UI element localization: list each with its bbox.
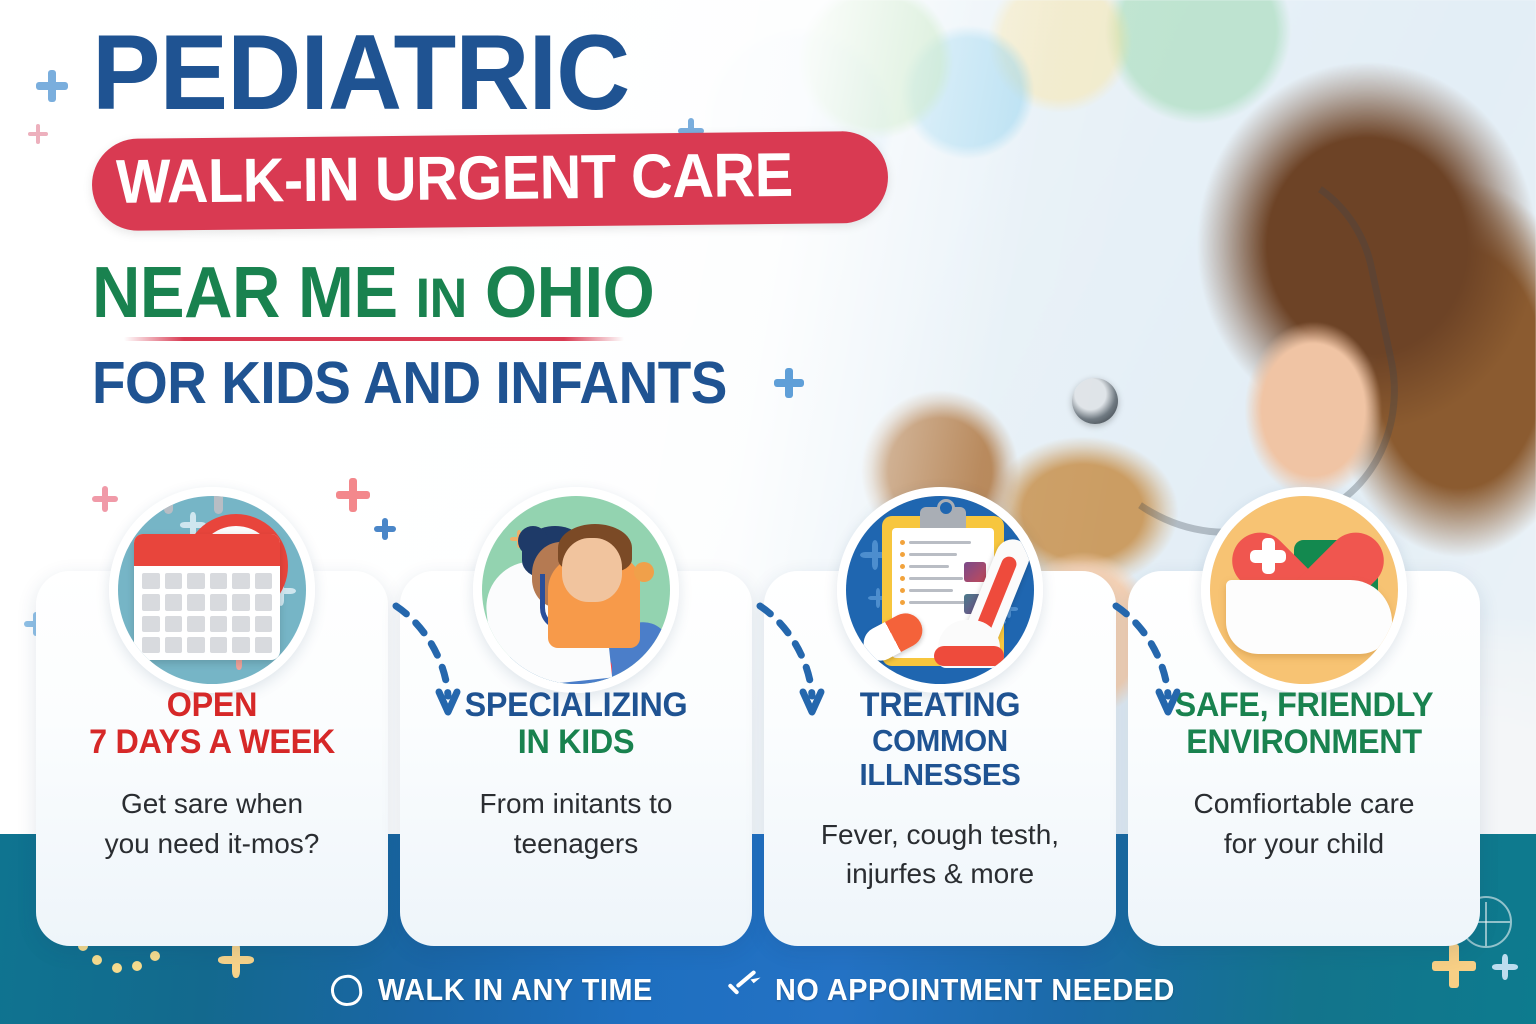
card-title-treating: TREATING COMMON ILLNESSES [790, 687, 1090, 793]
plus-decoration-mid-left-red [336, 478, 370, 512]
plus-decoration-left-pink [92, 486, 118, 512]
card-desc-line2: you need it-mos? [54, 824, 370, 864]
plus-decoration-top-left-blue [36, 70, 68, 102]
card-title-line2: ENVIRONMENT [1154, 724, 1454, 761]
footer-label-no-appointment: NO APPOINTMENT NEEDED [775, 972, 1175, 1008]
red-underline-rule [124, 337, 624, 341]
footer-label-walk-in: WALK IN ANY TIME [378, 972, 653, 1008]
footer-item-walk-in: WALK IN ANY TIME [331, 972, 674, 1008]
card-title-safe: SAFE, FRIENDLY ENVIRONMENT [1154, 687, 1454, 762]
feature-card-open-7-days[interactable]: OPEN 7 DAYS A WEEK Get sare when you nee… [36, 571, 388, 946]
footer-bar: WALK IN ANY TIME NO APPOINTMENT NEEDED [0, 956, 1536, 1024]
card-title-line1: OPEN [167, 686, 257, 724]
connector-arrow-2 [756, 600, 826, 720]
check-arrow-icon [725, 973, 759, 1007]
clipboard-medicine-icon [837, 487, 1043, 693]
headline-line-for-kids: FOR KIDS AND INFANTS [92, 354, 817, 413]
headline-in: IN [416, 266, 467, 329]
clock-outline-icon [329, 972, 364, 1007]
card-title-open: OPEN 7 DAYS A WEEK [62, 687, 362, 762]
card-desc-specializing: From initants to teenagers [418, 784, 734, 864]
hand-heart-shield-icon [1201, 487, 1407, 693]
card-desc-line2: teenagers [418, 824, 734, 864]
headline-line-near-me-ohio: NEAR ME IN OHIO [92, 257, 817, 329]
card-title-line1: SPECIALIZING [465, 686, 688, 724]
walk-in-pill-banner: WALK-IN URGENT CARE [92, 131, 888, 231]
headline-line-walkin: WALK-IN URGENT CARE [116, 145, 793, 214]
pediatric-urgent-care-poster: PEDIATRIC WALK-IN URGENT CARE NEAR ME IN… [0, 0, 1536, 1024]
card-desc-line2: injurfes & more [782, 854, 1098, 894]
headline-ohio: OHIO [485, 253, 654, 333]
card-title-line2: 7 DAYS A WEEK [62, 724, 362, 761]
card-title-specializing: SPECIALIZING IN KIDS [426, 687, 726, 762]
calendar-clock-icon [109, 487, 315, 693]
card-title-line2: IN KIDS [426, 724, 726, 761]
headline-block: PEDIATRIC WALK-IN URGENT CARE NEAR ME IN… [92, 20, 872, 413]
headline-near-me: NEAR ME [92, 253, 398, 333]
card-desc-line1: From initants to [418, 784, 734, 824]
plus-decoration-mid-center-blue [374, 518, 396, 540]
connector-arrow-3 [1112, 600, 1182, 720]
card-desc-safe: Comfiortable care for your child [1146, 784, 1462, 864]
doctor-examining-child-icon [473, 487, 679, 693]
card-title-line2: COMMON ILLNESSES [790, 724, 1090, 792]
connector-arrow-1 [392, 600, 462, 720]
plus-decoration-top-left-pink [28, 124, 48, 144]
card-title-line1: TREATING [860, 686, 1020, 724]
card-desc-line2: for your child [1146, 824, 1462, 864]
footer-item-no-appointment: NO APPOINTMENT NEEDED [725, 972, 1205, 1008]
card-desc-line1: Get sare when [54, 784, 370, 824]
card-desc-line1: Fever, cough testh, [782, 815, 1098, 855]
card-title-line1: SAFE, FRIENDLY [1175, 686, 1434, 724]
card-desc-line1: Comfiortable care [1146, 784, 1462, 824]
headline-line-pediatric: PEDIATRIC [92, 20, 841, 125]
card-desc-open: Get sare when you need it-mos? [54, 784, 370, 864]
card-desc-treating: Fever, cough testh, injurfes & more [782, 815, 1098, 895]
